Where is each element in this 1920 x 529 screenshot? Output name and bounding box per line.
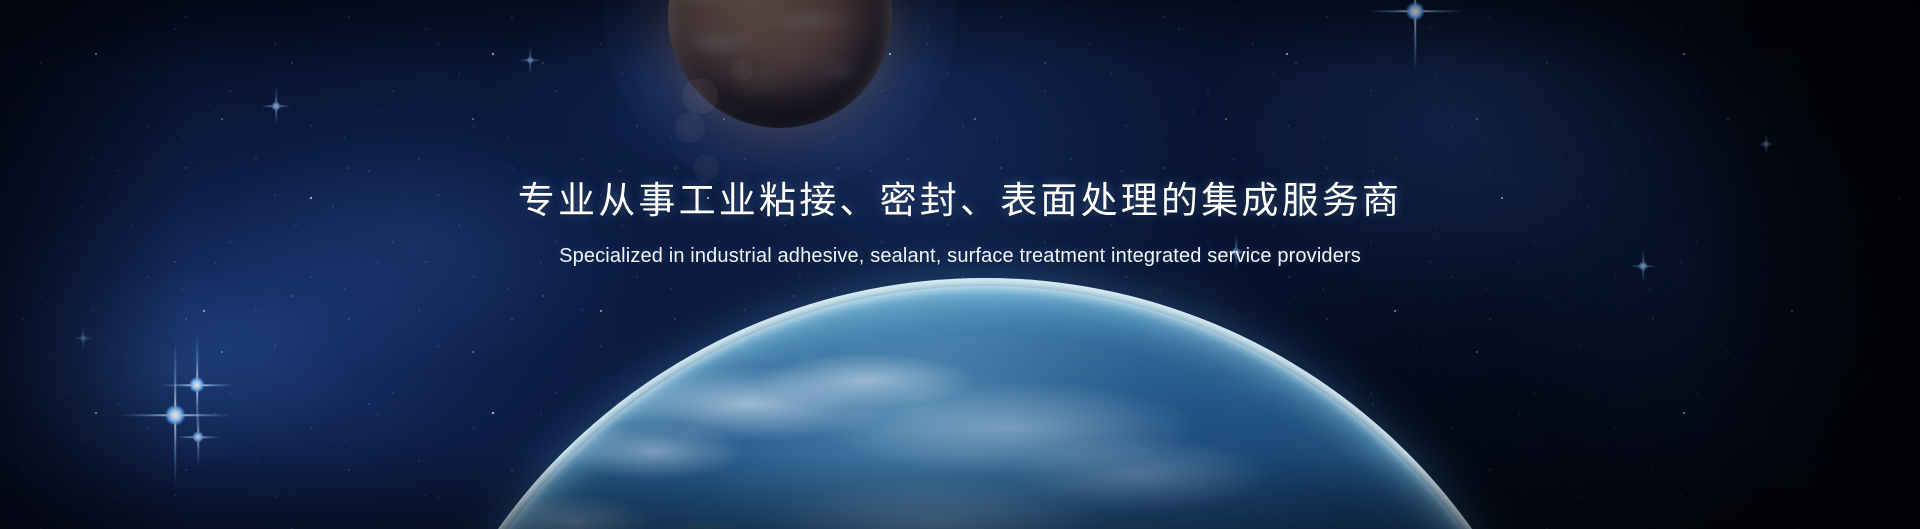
hero-banner: 专业从事工业粘接、密封、表面处理的集成服务商 Specialized in in… [0, 0, 1920, 529]
hero-text-block: 专业从事工业粘接、密封、表面处理的集成服务商 Specialized in in… [0, 176, 1920, 269]
hero-subtitle-english: Specialized in industrial adhesive, seal… [0, 243, 1920, 269]
hero-title-chinese: 专业从事工业粘接、密封、表面处理的集成服务商 [0, 176, 1920, 229]
